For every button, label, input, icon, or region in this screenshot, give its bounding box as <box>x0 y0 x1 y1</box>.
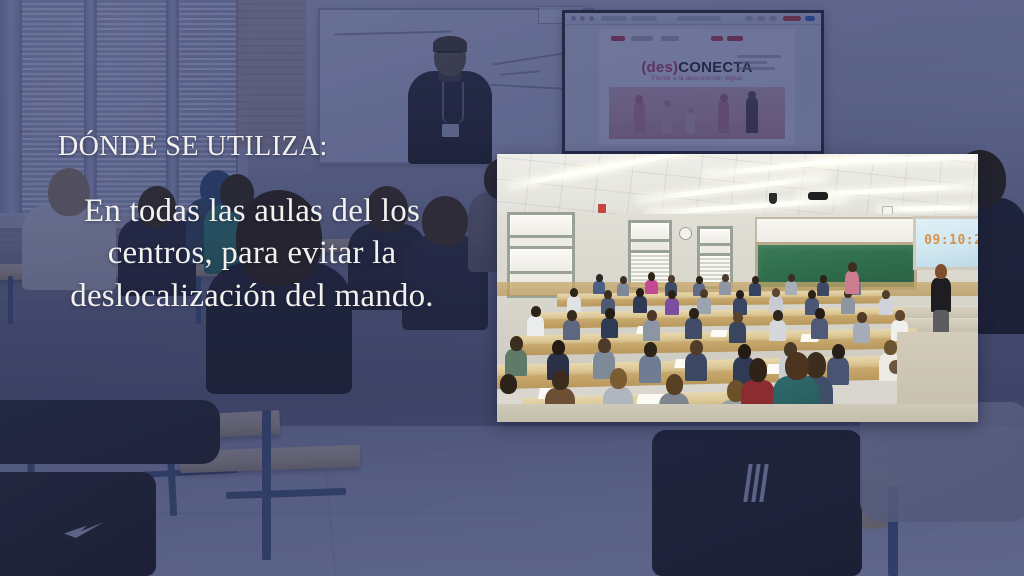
seated-student <box>567 288 581 312</box>
ceiling-speaker <box>769 193 777 204</box>
slide-body: En todas las aulas del los centros, para… <box>0 190 500 319</box>
seated-student <box>811 308 828 339</box>
seated-student <box>685 308 702 339</box>
slide-heading: DÓNDE SE UTILIZA: <box>0 130 500 164</box>
seated-student <box>749 276 761 296</box>
wall-clock <box>679 227 692 240</box>
seated-student <box>505 336 527 376</box>
seated-student <box>617 276 629 296</box>
seated-student <box>639 342 661 383</box>
seated-student <box>769 310 786 341</box>
seated-student <box>785 274 797 295</box>
seated-student <box>729 312 746 343</box>
seated-student <box>527 306 544 336</box>
paper-sheet <box>710 330 727 337</box>
slide-text-block: DÓNDE SE UTILIZA: En todas las aulas del… <box>0 130 500 318</box>
seated-student <box>853 312 870 343</box>
seated-student <box>665 290 679 315</box>
ceiling-projector <box>808 192 828 200</box>
seated-student <box>719 274 731 295</box>
seated-student <box>601 308 618 338</box>
body-line-2: centros, para evitar la <box>22 232 482 275</box>
inset-lecture-hall-photo: 09:10:2 <box>497 154 978 422</box>
staff-member-front <box>845 262 859 294</box>
countdown-timer: 09:10:2 <box>924 233 978 248</box>
hall-floor <box>497 404 978 422</box>
projector-screen-timer: 09:10:2 <box>913 216 978 270</box>
presentation-slide: (des)CONECTA Frente a la desconexión dig… <box>0 0 1024 576</box>
body-line-3: deslocalización del mando. <box>22 275 482 318</box>
fire-alarm-sign <box>598 204 606 213</box>
seated-student <box>643 310 660 341</box>
seated-student <box>563 310 580 340</box>
body-line-1: En todas las aulas del los <box>22 190 482 233</box>
